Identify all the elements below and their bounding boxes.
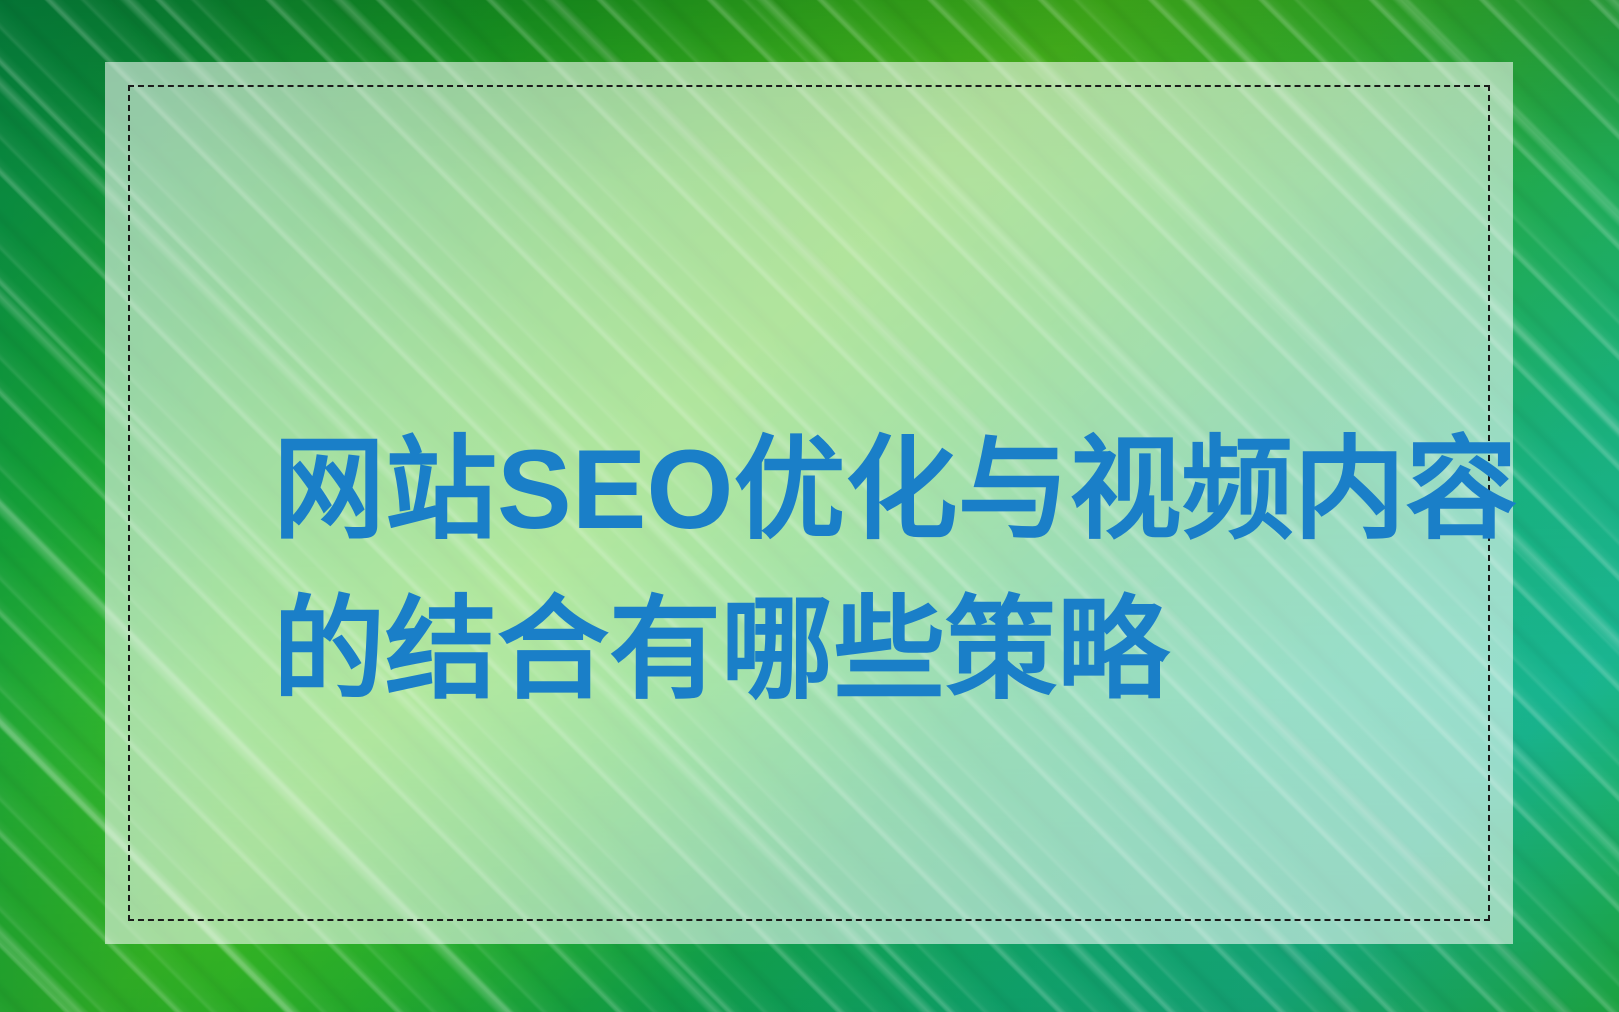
poster-canvas: 网站SEO优化与视频内容的结合有哪些策略 <box>0 0 1619 1012</box>
translucent-panel: 网站SEO优化与视频内容的结合有哪些策略 <box>105 62 1513 944</box>
page-title: 网站SEO优化与视频内容的结合有哪些策略 <box>273 410 1543 730</box>
